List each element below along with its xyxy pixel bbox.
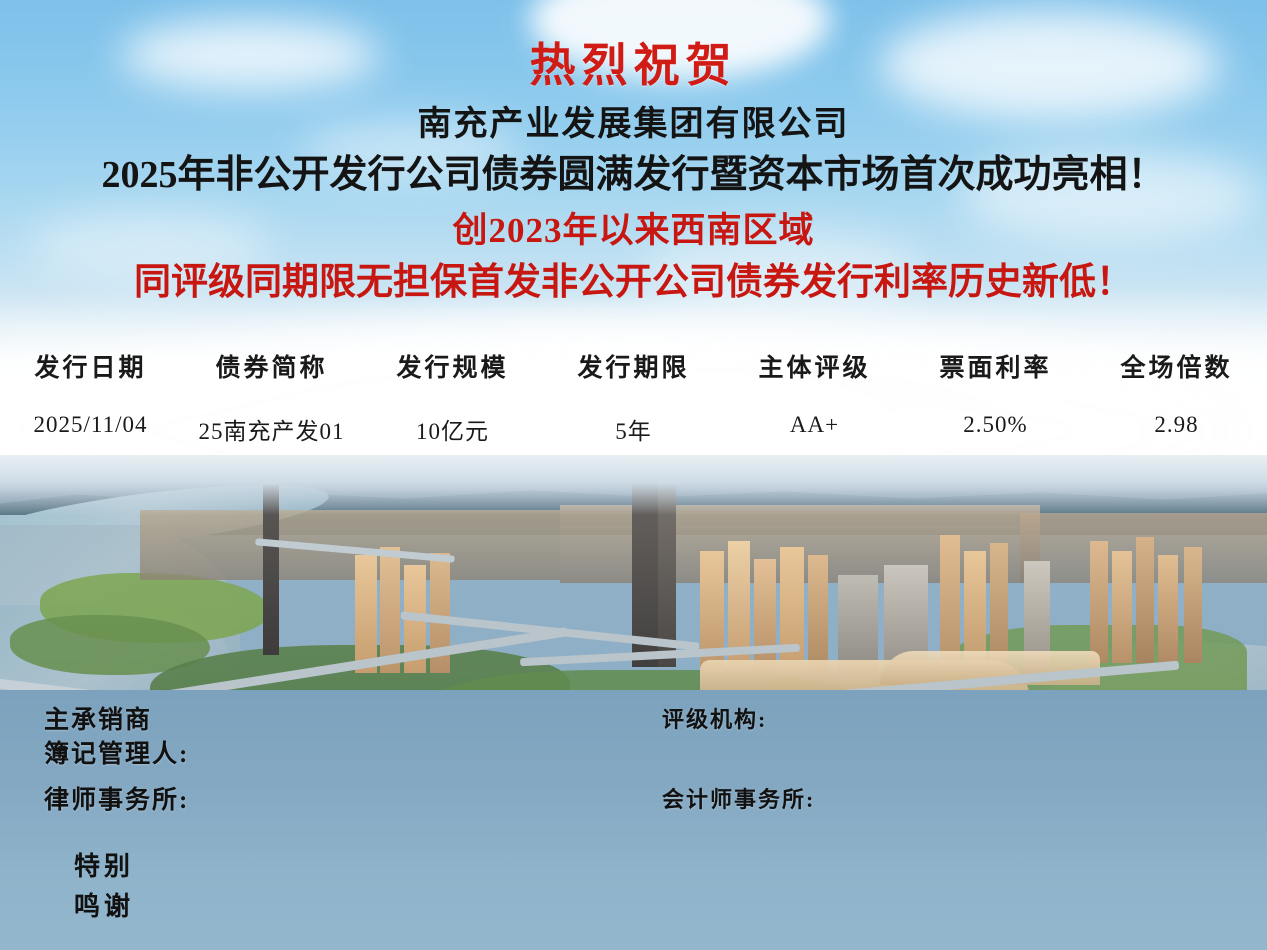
tower (1112, 551, 1132, 663)
td-tenor: 5年 (543, 384, 724, 446)
th-issue-size: 发行规模 (362, 340, 543, 384)
institutions-block: 主承销商 簿记管理人: 律师事务所: 评级机构: 会计师事务所: 粤开证券股份有… (0, 690, 1267, 840)
td-bond-name: 25南充产发01 (181, 384, 362, 446)
record-line-2: 同评级同期限无担保首发非公开公司债券发行利率历史新低！ (0, 262, 1267, 303)
table-header-row: 发行日期 债券简称 发行规模 发行期限 主体评级 票面利率 全场倍数 (0, 340, 1267, 384)
tower-grey (838, 575, 878, 673)
tower (780, 547, 804, 673)
thanks-label-line1: 特别 (74, 847, 134, 887)
tower (1158, 555, 1178, 663)
headline-block: 热烈祝贺 南充产业发展集团有限公司 2025年非公开发行公司债券圆满发行暨资本市… (0, 0, 1267, 304)
td-coupon-rate: 2.50% (905, 384, 1086, 446)
lawfirm-label: 律师事务所: (44, 780, 189, 816)
td-issue-size: 10亿元 (362, 384, 543, 446)
tower (754, 559, 776, 673)
tower (1090, 541, 1108, 663)
th-issue-date: 发行日期 (0, 340, 181, 384)
special-thanks-block: 特别 鸣谢 深圳证券交易所 SHENZHEN STOCK EXCHANGE 项目… (0, 835, 1267, 950)
special-thanks-label: 特别 鸣谢 (74, 847, 134, 928)
tower (808, 555, 828, 673)
celebration-poster: 热烈祝贺 南充产业发展集团有限公司 2025年非公开发行公司债券圆满发行暨资本市… (0, 0, 1267, 950)
td-subscription-multiple: 2.98 (1086, 384, 1267, 446)
company-name: 南充产业发展集团有限公司 (0, 106, 1267, 144)
accountant-label: 会计师事务所: (662, 782, 815, 814)
th-bond-name: 债券简称 (181, 340, 362, 384)
bond-summary-table: 发行日期 债券简称 发行规模 发行期限 主体评级 票面利率 全场倍数 2025/… (0, 340, 1267, 446)
td-issue-date: 2025/11/04 (0, 384, 181, 446)
tower (1136, 537, 1154, 663)
event-headline: 2025年非公开发行公司债券圆满发行暨资本市场首次成功亮相！ (0, 154, 1267, 197)
rating-agency-label: 评级机构: (662, 702, 767, 734)
th-coupon-rate: 票面利率 (905, 340, 1086, 384)
thanks-label-line2: 鸣谢 (74, 887, 134, 927)
congrats-title: 热烈祝贺 (0, 42, 1267, 90)
underwriter-label-line2: 簿记管理人: (44, 734, 189, 770)
tower (355, 555, 377, 673)
horizon-haze (0, 455, 1267, 515)
th-issuer-rating: 主体评级 (724, 340, 905, 384)
underwriter-label-line1: 主承销商 (44, 700, 152, 736)
table-row: 2025/11/04 25南充产发01 10亿元 5年 AA+ 2.50% 2.… (0, 384, 1267, 446)
tower (1184, 547, 1202, 663)
th-subscription-multiple: 全场倍数 (1086, 340, 1267, 384)
record-line-1: 创2023年以来西南区域 (0, 211, 1267, 250)
td-issuer-rating: AA+ (724, 384, 905, 446)
th-tenor: 发行期限 (543, 340, 724, 384)
skyline-block (140, 510, 560, 580)
